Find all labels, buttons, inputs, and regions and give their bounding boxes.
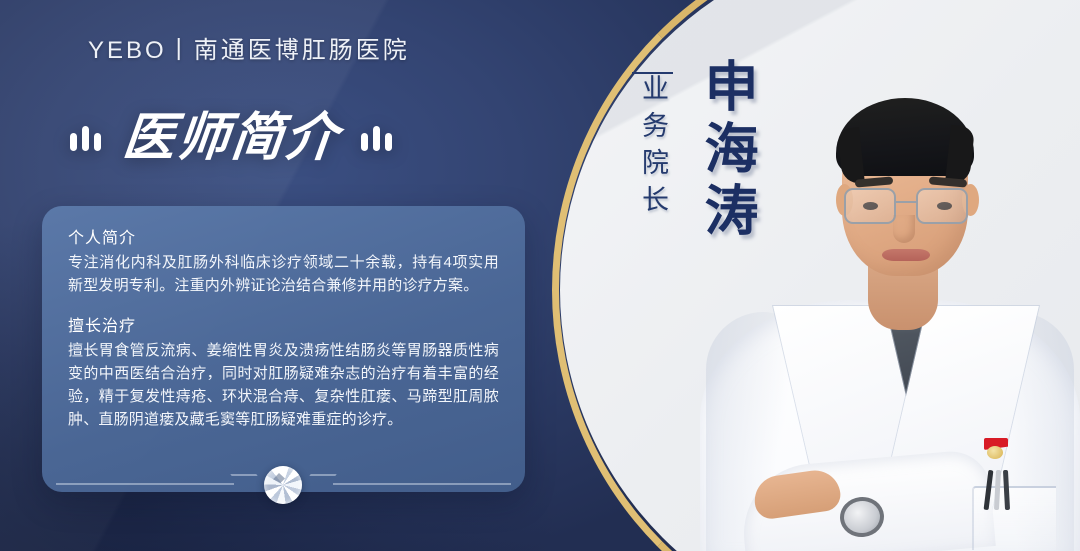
doctor-position-title-text: 业务院长	[632, 72, 673, 222]
pen-2	[994, 470, 1001, 510]
tick-bar-1	[70, 133, 77, 151]
section-heading-profile: 个人简介	[68, 224, 499, 248]
tick-bar-3	[385, 133, 392, 151]
tick-bar-3	[94, 133, 101, 151]
mouth	[882, 249, 930, 261]
party-badge-icon	[982, 438, 1008, 458]
section-heading-specialty: 擅长治疗	[68, 312, 499, 336]
three-bar-tick-icon-right	[361, 121, 392, 155]
page-title: 医师简介	[120, 112, 341, 164]
doctor-info-card: 个人简介 专注消化内科及肛肠外科临床诊疗领域二十余载，持有4项实用新型发明专利。…	[42, 206, 525, 492]
glasses-bridge	[896, 201, 916, 203]
poster-canvas: 业务院长 申海涛 YEBO丨南通医博肛肠医院 医师简介 个人简介 专注消化内科及…	[0, 0, 1080, 551]
section-body-specialty: 擅长胃食管反流病、姜缩性胃炎及溃疡性结肠炎等胃肠器质性病变的中西医结合治疗，同时…	[68, 339, 499, 432]
pocket-pens-icon	[986, 470, 1020, 514]
headline-row: 医师简介	[70, 112, 392, 164]
three-bar-tick-icon-left	[70, 121, 101, 155]
gem-diamond-icon	[264, 466, 302, 504]
doctor-position-title: 业务院长	[632, 72, 673, 222]
tick-bar-2	[373, 126, 380, 151]
glasses-lens-left	[844, 188, 896, 224]
tick-bar-1	[361, 133, 368, 151]
section-body-profile: 专注消化内科及肛肠外科临床诊疗领域二十余载，持有4项实用新型发明专利。注重内外辨…	[68, 251, 499, 298]
tick-bar-2	[82, 126, 89, 151]
brand-lockup: YEBO丨南通医博肛肠医院	[88, 30, 410, 65]
section-spacer	[68, 298, 499, 312]
badge-disc	[987, 446, 1003, 459]
brand-text: YEBO丨南通医博肛肠医院	[88, 37, 410, 64]
hair	[836, 98, 974, 176]
pen-3	[1003, 470, 1010, 510]
pen-1	[984, 470, 994, 510]
glasses-lens-right	[916, 188, 968, 224]
doctor-name: 申海涛	[688, 58, 767, 244]
nose	[893, 215, 915, 243]
